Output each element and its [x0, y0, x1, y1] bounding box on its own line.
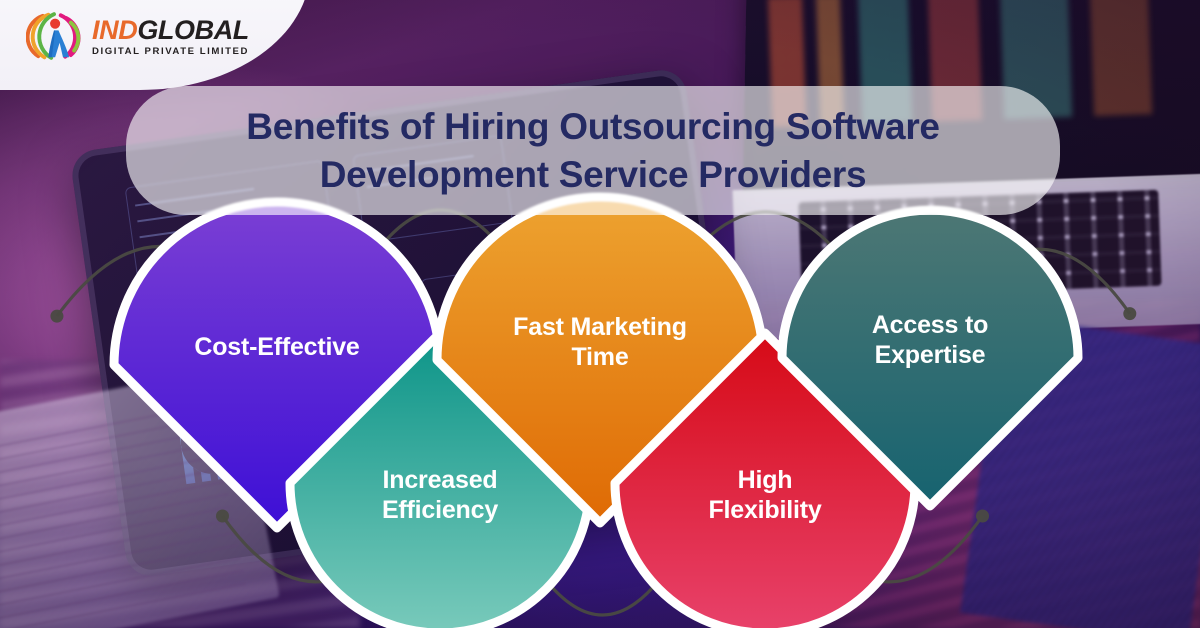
benefit-label: Access to Expertise	[808, 310, 1053, 370]
brand-name-ind: IND	[92, 15, 137, 45]
brand-logo[interactable]: INDGLOBAL DIGITAL PRIVATE LIMITED	[26, 8, 249, 64]
brand-tagline: DIGITAL PRIVATE LIMITED	[92, 47, 249, 57]
page-title-line-2: Development Service Providers	[320, 151, 867, 198]
brand-wordmark: INDGLOBAL DIGITAL PRIVATE LIMITED	[92, 15, 249, 57]
page-title-line-1: Benefits of Hiring Outsourcing Software	[246, 103, 939, 150]
indglobal-swirl-logo-icon	[26, 8, 82, 64]
benefit-diamond-access-to-expertise[interactable]: Access to Expertise	[773, 201, 1087, 515]
brand-name-global: GLOBAL	[137, 15, 249, 45]
infographic-canvas: Cost-Effective Increased Efficiency Fast…	[0, 0, 1200, 628]
title-panel: Benefits of Hiring Outsourcing Software …	[126, 86, 1060, 215]
